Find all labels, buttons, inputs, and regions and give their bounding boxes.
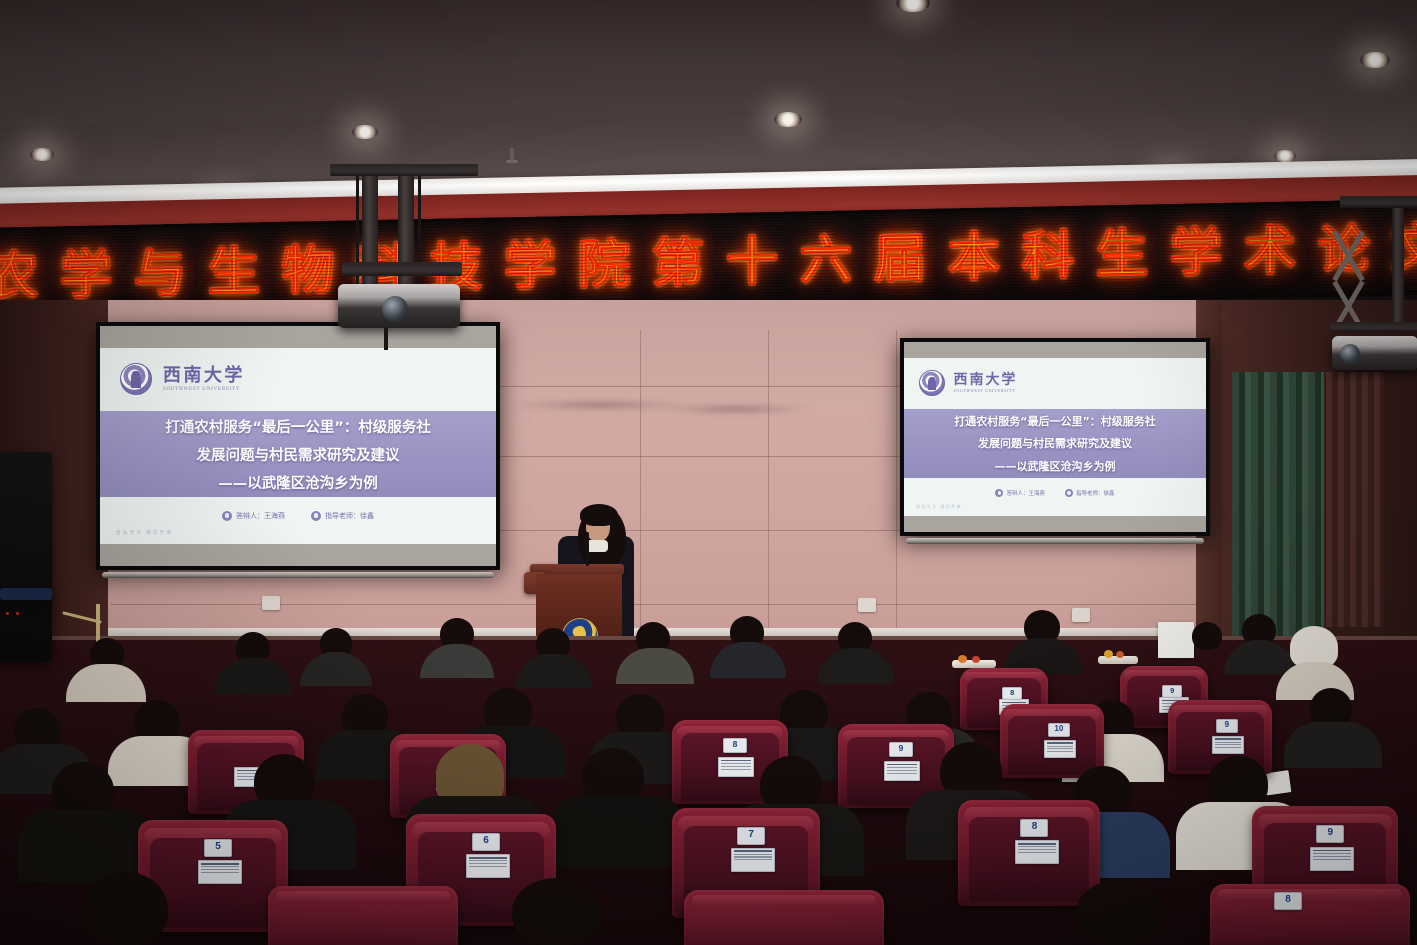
projector-mount-bracket [1330,322,1417,332]
screen-letterbox-bottom [904,516,1206,532]
wall-seam [768,330,769,630]
seat-rim [276,891,451,902]
person-icon [222,511,232,521]
seat-info-plate [731,848,775,872]
seat-info-plate [1212,736,1244,754]
seat-info-plate [466,854,510,878]
audience-head [1076,880,1162,945]
auditorium-seat[interactable] [268,886,458,945]
fruit-item [1116,651,1124,658]
slide-title-line-1: 打通农村服务“最后一公里”：村级服务社 [904,413,1206,429]
ceiling-downlight [1274,150,1296,162]
wall-outlet [262,596,280,610]
university-name-cn: 西南大学 [163,367,245,385]
projector-ceiling-plate [330,164,478,176]
left-screen-surface: 西南大学 SOUTHWEST UNIVERSITY 打通农村服务“最后一公里”：… [100,326,496,566]
audience-head [512,878,600,945]
seat-number: 8 [723,738,747,753]
advisor-label: 指导老师：徐鑫 [325,511,374,521]
seat-info-plate [718,757,754,777]
university-emblem-icon [120,363,152,395]
fruit-item [972,656,980,663]
auditorium-seat[interactable]: 10 [1000,704,1104,778]
projector-ceiling-plate [1340,196,1417,208]
audience-shoulders [1284,722,1382,768]
handout-paper [1158,622,1194,658]
seat-number: 8 [1274,892,1302,910]
rack-indicator-led [6,612,9,615]
seat-number: 9 [1316,825,1344,843]
presenter-hair-front [580,504,618,526]
projector-lift-column [1392,208,1404,332]
right-slide: 西南大学 SOUTHWEST UNIVERSITY 打通农村服务“最后一公里”：… [904,358,1206,516]
sprinkler-head [510,148,514,162]
presenter-scarf [586,540,608,552]
seat-info-plate [1015,840,1059,864]
ceiling-downlight [774,112,802,127]
advisor-label: 指导老师：徐鑫 [1076,489,1115,497]
fruit-item [1104,650,1113,658]
presenter-label: 答辩人：王海燕 [236,511,285,521]
auditorium-seat[interactable]: 8 [958,800,1100,906]
advisor-credit: 指导老师：徐鑫 [311,511,374,521]
slide-logo: 西南大学 SOUTHWEST UNIVERSITY [919,366,1130,401]
slide-title-line-3: ——以武隆区沧沟乡为例 [100,472,496,493]
seat-info-plate [1310,847,1354,871]
presenter-label: 答辩人：王海燕 [1006,489,1045,497]
advisor-credit: 指导老师：徐鑫 [1065,489,1115,497]
presenter-credit: 答辩人：王海燕 [995,489,1045,497]
slide-credits: 答辩人：王海燕 指导老师：徐鑫 [904,489,1206,497]
seat-number: 9 [1216,719,1238,733]
stage-curtain-right [1326,372,1384,627]
audience-head [84,872,168,945]
rack-indicator-led [16,612,19,615]
slide-footer-motto: 含弘光大 继往开来 [116,529,173,536]
slide-logo: 西南大学 SOUTHWEST UNIVERSITY [120,358,397,401]
seat-number: 7 [737,827,765,845]
slide-credits: 答辩人：王海燕 指导老师：徐鑫 [100,511,496,521]
university-emblem-icon [919,370,945,396]
person-icon [995,489,1003,497]
seat-rim [692,895,876,906]
seat-info-plate [1044,740,1076,758]
screen-letterbox-bottom [100,544,496,566]
slide-title-line-2: 发展问题与村民需求研究及建议 [100,444,496,465]
left-slide: 西南大学 SOUTHWEST UNIVERSITY 打通农村服务“最后一公里”：… [100,348,496,544]
slide-title-line-2: 发展问题与村民需求研究及建议 [904,435,1206,451]
auditorium-seat[interactable]: 8 [1210,884,1410,945]
slide-footer-motto: 含弘光大 继往开来 [916,504,962,510]
audience-head [1192,622,1222,650]
projector-lens [382,296,408,322]
wall-outlet [1072,608,1090,622]
wall-seam [640,330,641,630]
seat-info-plate [884,761,920,781]
screen-letterbox-top [904,342,1206,358]
audio-equipment-rack [0,452,52,662]
seat-number: 9 [1162,685,1182,698]
audience-shoulders [548,796,686,868]
podium-microphone [586,532,589,566]
left-screen-roller [102,572,494,578]
seat-number: 6 [472,833,500,851]
projector-cable [384,328,388,350]
wall-seam [896,330,897,630]
seat-rim [1218,889,1402,900]
university-name-en: SOUTHWEST UNIVERSITY [163,387,245,392]
seat-number: 8 [1020,819,1048,837]
seat-number: 10 [1048,723,1070,737]
screen-letterbox-top [100,326,496,348]
ceiling-downlight [30,148,54,161]
slide-title-line-1: 打通农村服务“最后一公里”：村级服务社 [100,416,496,437]
fruit-item [958,655,967,663]
seat-number: 9 [889,742,913,757]
ceiling-downlight [352,125,378,139]
auditorium-scene: 农学与生物科技学院第十六届本科生学术论文 西南大学 SOUTHWEST UNIV… [0,0,1417,945]
wall-outlet [858,598,876,612]
person-icon [311,511,321,521]
stage-curtain [1232,372,1324,640]
university-name-en: SOUTHWEST UNIVERSITY [954,389,1018,393]
presenter-credit: 答辩人：王海燕 [222,511,285,521]
seat-number: 5 [204,839,232,857]
wall-smudge [660,404,810,414]
right-screen-roller [906,538,1204,544]
rack-monitor [0,588,52,600]
seat-info-plate [198,860,242,884]
person-icon [1065,489,1073,497]
projector-mount-bracket [342,262,462,276]
seat-number: 8 [1002,687,1022,700]
right-screen-surface: 西南大学 SOUTHWEST UNIVERSITY 打通农村服务“最后一公里”：… [904,342,1206,532]
university-name-cn: 西南大学 [954,373,1018,387]
projector-lens [1340,344,1360,364]
ceiling-downlight [1360,52,1390,68]
slide-title-line-3: ——以武隆区沧沟乡为例 [904,458,1206,474]
audience-shoulders [18,810,156,882]
auditorium-seat[interactable] [684,890,884,945]
